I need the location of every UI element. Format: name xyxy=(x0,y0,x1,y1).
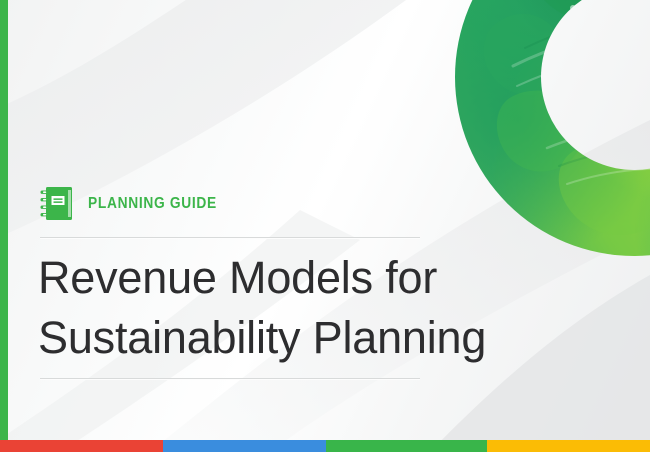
color-segment-red xyxy=(0,440,163,452)
divider-above-title xyxy=(40,237,420,238)
cover-content: PLANNING GUIDE Revenue Models for Sustai… xyxy=(0,0,650,452)
left-green-rail xyxy=(0,0,8,452)
color-segment-blue xyxy=(163,440,326,452)
color-segment-yellow xyxy=(487,440,650,452)
eyebrow-row: PLANNING GUIDE xyxy=(40,186,238,222)
color-segment-green xyxy=(326,440,488,452)
eyebrow-label: PLANNING GUIDE xyxy=(88,195,217,213)
page-title: Revenue Models for Sustainability Planni… xyxy=(38,248,518,368)
notebook-icon xyxy=(40,186,74,222)
divider-below-title xyxy=(40,378,420,379)
brand-color-bar xyxy=(0,440,650,452)
report-cover-page: PLANNING GUIDE Revenue Models for Sustai… xyxy=(0,0,650,452)
